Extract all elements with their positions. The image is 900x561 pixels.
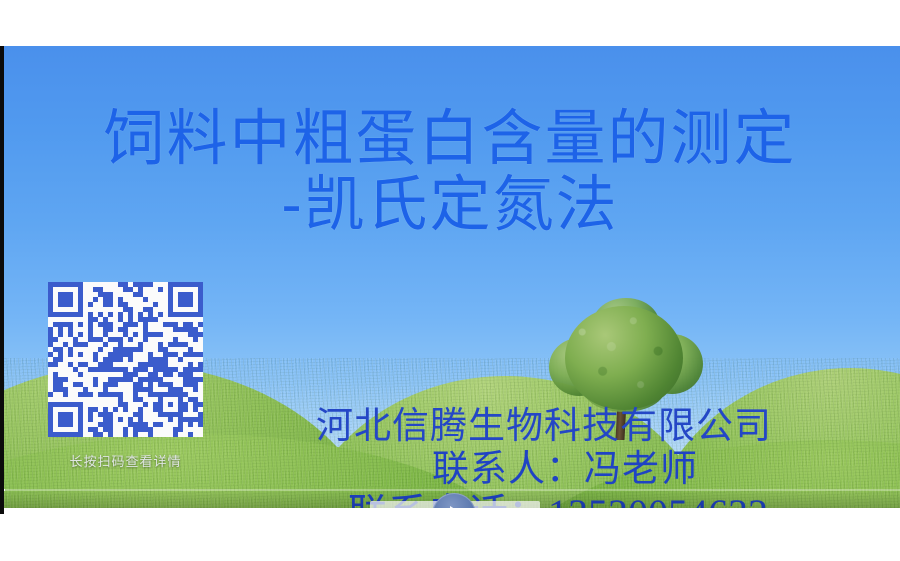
video-title-line-2: -凯氏定氮法 (0, 170, 900, 238)
video-title-block: 饲料中粗蛋白含量的测定 -凯氏定氮法 (0, 104, 900, 239)
page-root: 饲料中粗蛋白含量的测定 -凯氏定氮法 长按扫码查看详情 河北信腾生物科技有限公司… (0, 0, 900, 561)
tree-foliage-texture (553, 304, 699, 416)
video-player[interactable]: 饲料中粗蛋白含量的测定 -凯氏定氮法 长按扫码查看详情 河北信腾生物科技有限公司… (0, 46, 900, 514)
qr-code-image[interactable] (48, 282, 203, 437)
player-progress-bar[interactable] (0, 489, 900, 491)
qr-code-caption: 长按扫码查看详情 (48, 451, 203, 470)
qr-code-block[interactable]: 长按扫码查看详情 (48, 282, 203, 470)
video-bottom-crop-edge (0, 508, 900, 514)
video-left-gutter (0, 46, 4, 514)
qr-code-canvas[interactable] (48, 282, 203, 437)
video-title-line-1: 饲料中粗蛋白含量的测定 (0, 104, 900, 172)
